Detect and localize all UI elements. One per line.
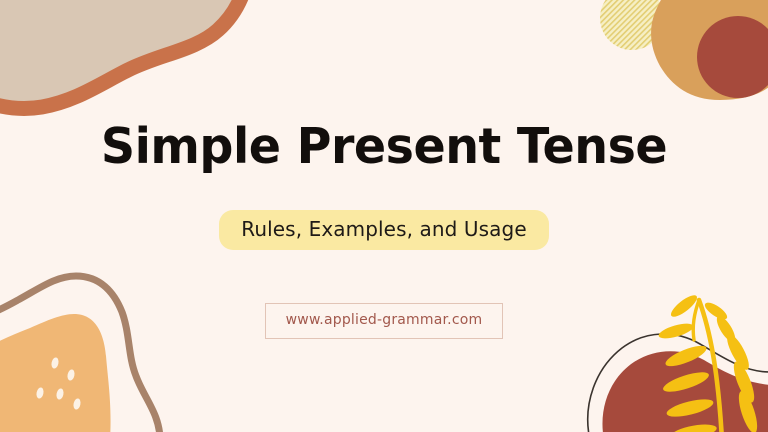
subtitle-badge: Rules, Examples, and Usage [219, 210, 548, 250]
url-container: www.applied-grammar.com [0, 303, 768, 339]
page-title: Simple Present Tense [12, 116, 757, 178]
website-url[interactable]: www.applied-grammar.com [265, 303, 504, 339]
slide-canvas: Simple Present Tense Rules, Examples, an… [0, 0, 768, 432]
subtitle-container: Rules, Examples, and Usage [0, 210, 768, 250]
slide-content: Simple Present Tense Rules, Examples, an… [0, 0, 768, 432]
